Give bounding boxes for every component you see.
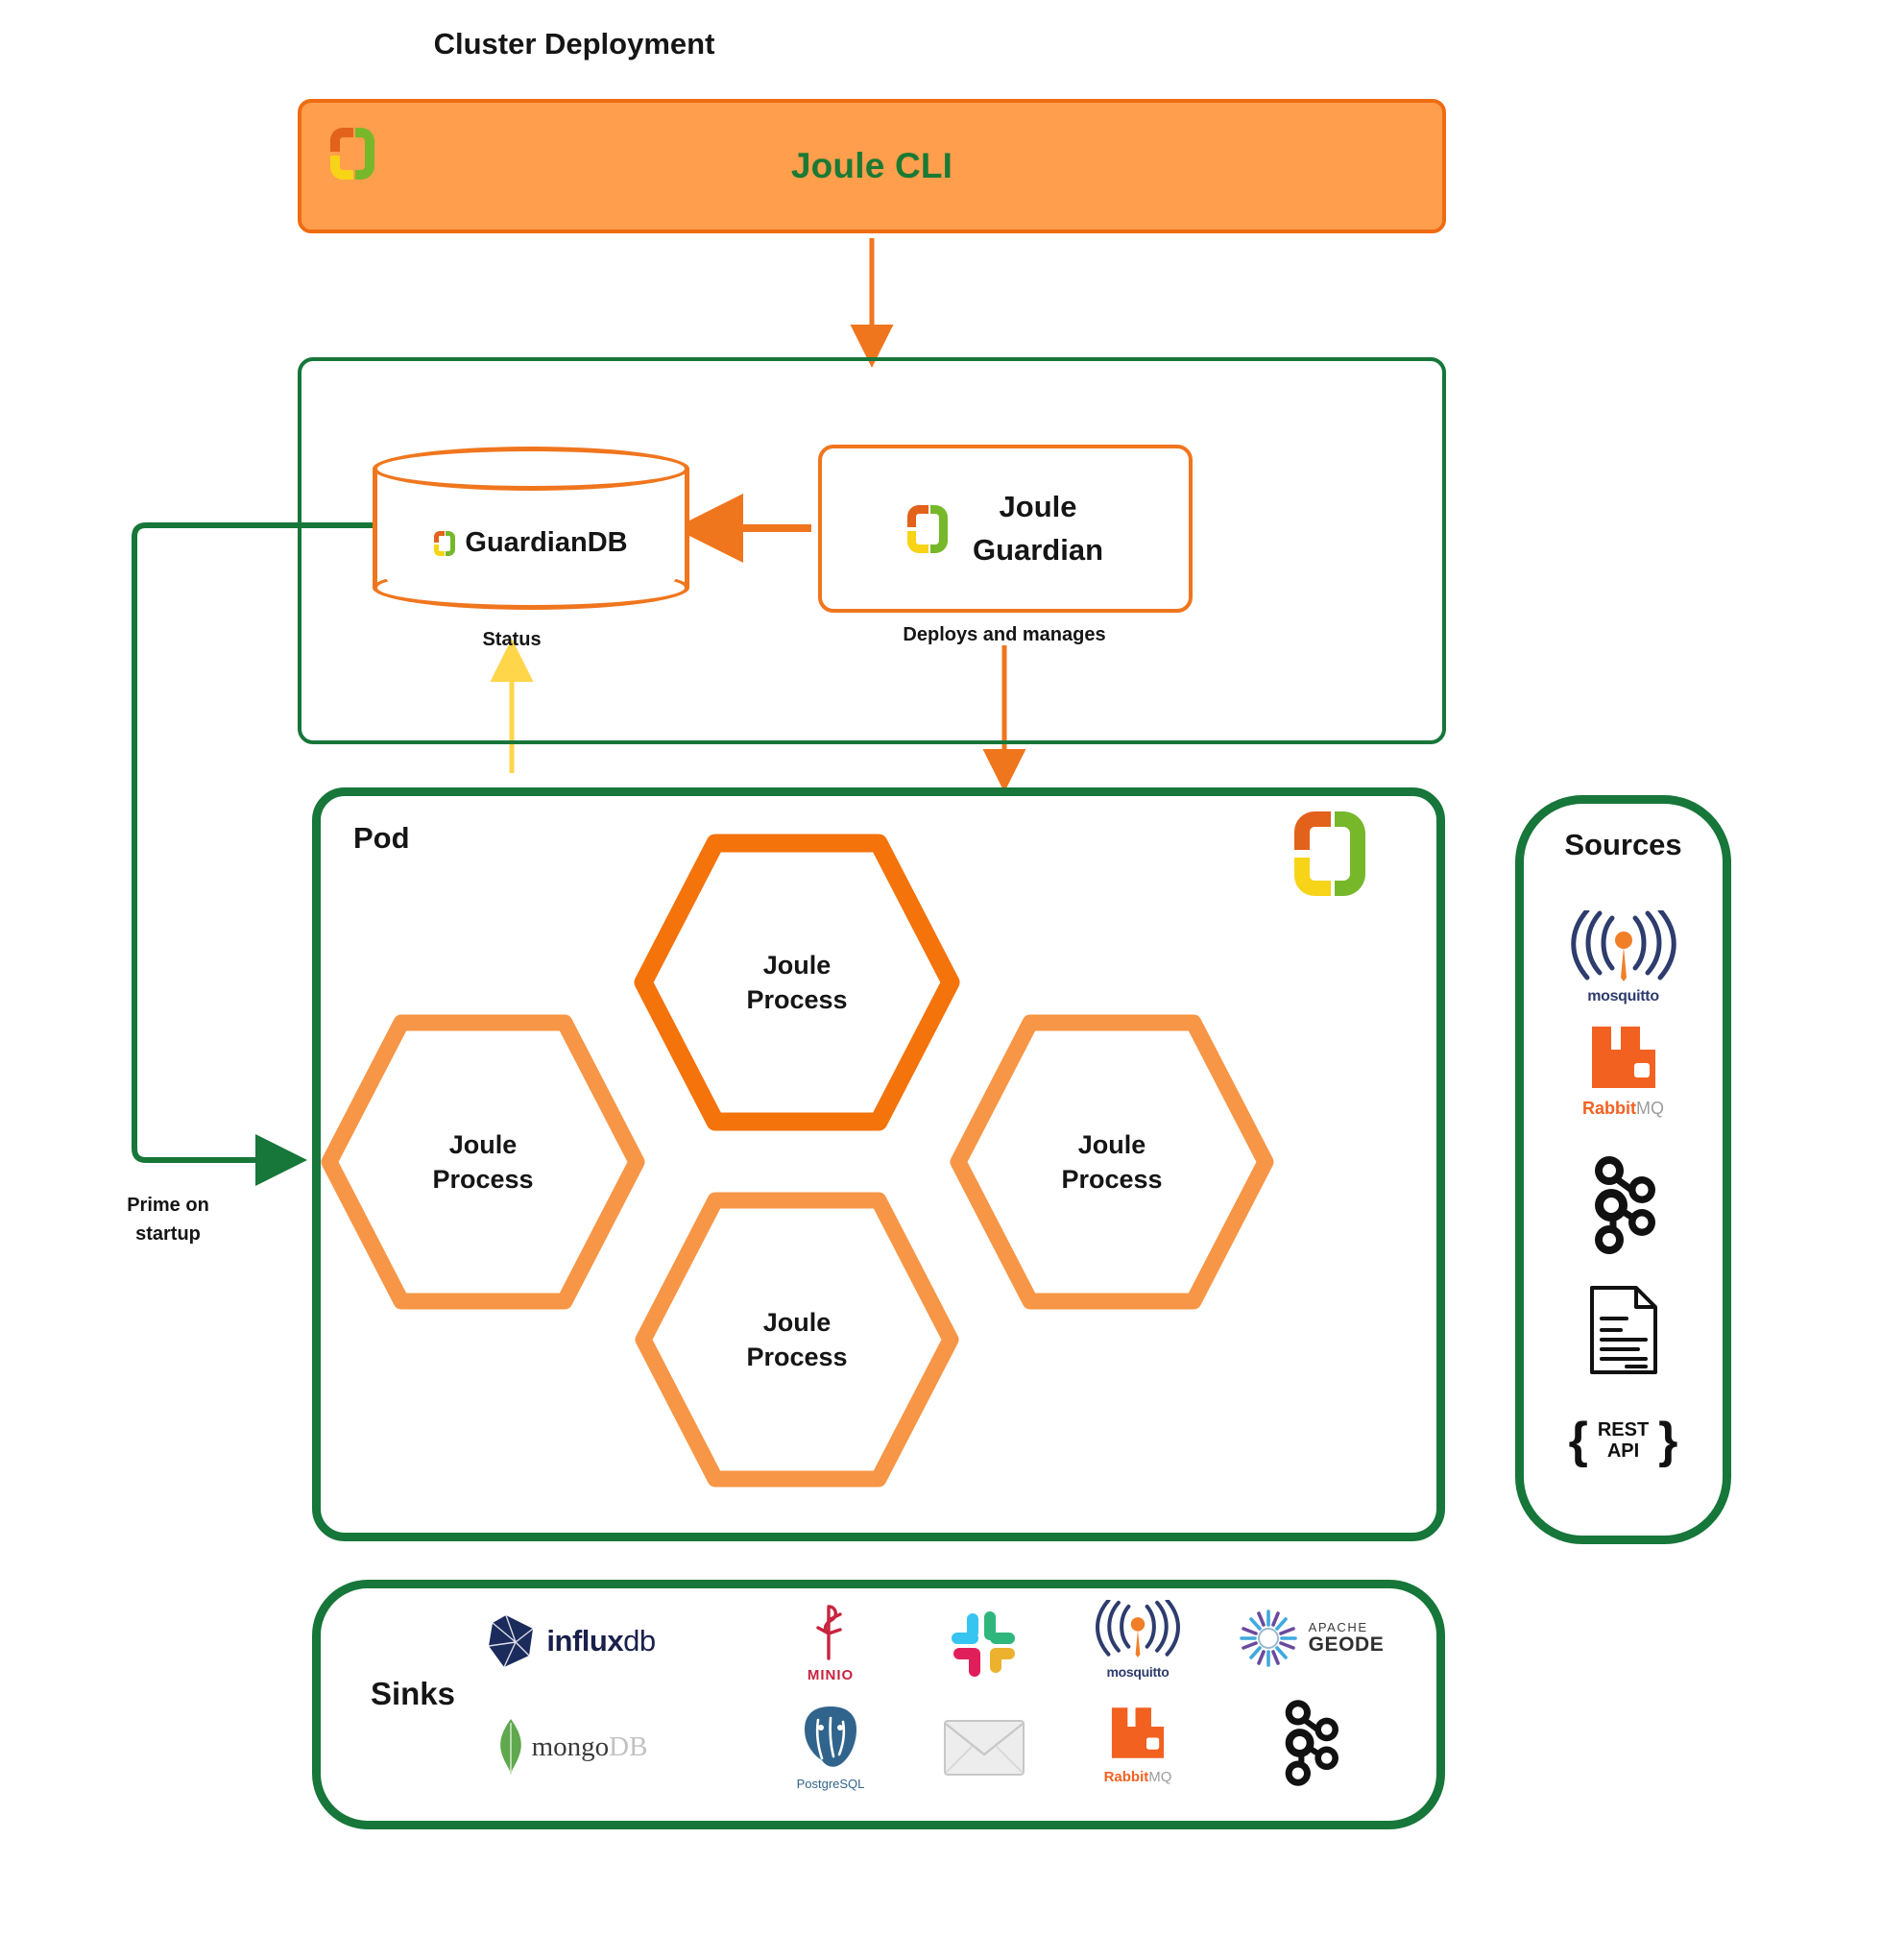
rabbitmq-icon bbox=[1586, 1027, 1661, 1094]
joule-guardian-label: JouleGuardian bbox=[973, 486, 1103, 572]
sink-label-minio: MINIO bbox=[806, 1667, 856, 1683]
slack-icon bbox=[948, 1606, 1021, 1679]
sink-label-mosquitto: mosquitto bbox=[1095, 1664, 1181, 1680]
sink-item-postgresql[interactable]: PostgreSQL bbox=[763, 1695, 898, 1796]
source-item-kafka[interactable] bbox=[1515, 1152, 1731, 1258]
joule-cli-label: Joule CLI bbox=[301, 103, 1442, 230]
sink-label-postgresql: PostgreSQL bbox=[795, 1777, 866, 1791]
geode-icon bbox=[1238, 1608, 1299, 1669]
sink-label-geode-bottom: GEODE bbox=[1309, 1634, 1385, 1656]
prime-on-startup-label: Prime onstartup bbox=[58, 1191, 278, 1248]
joule-process-hex-top[interactable]: JouleProcess bbox=[634, 834, 960, 1131]
joule-process-hex-right[interactable]: JouleProcess bbox=[949, 1013, 1275, 1311]
cylinder-top bbox=[373, 447, 689, 491]
source-item-mosquitto[interactable]: mosquitto bbox=[1515, 905, 1731, 1010]
brace-open-icon: { bbox=[1569, 1418, 1588, 1464]
guardiandb-label-row: GuardianDB bbox=[373, 527, 689, 559]
status-edge-label: Status bbox=[425, 629, 598, 651]
joule-process-label: JouleProcess bbox=[634, 834, 960, 1131]
sink-item-apache-geode[interactable]: APACHE GEODE bbox=[1200, 1594, 1421, 1682]
sources-title: Sources bbox=[1515, 828, 1731, 862]
influxdb-icon bbox=[487, 1613, 537, 1669]
source-label-rest-api: RESTAPI bbox=[1598, 1419, 1649, 1463]
brace-close-icon: } bbox=[1658, 1418, 1677, 1464]
sink-item-minio[interactable]: MINIO bbox=[768, 1594, 893, 1690]
guardiandb-cylinder[interactable]: GuardianDB bbox=[373, 447, 689, 610]
rabbitmq-icon bbox=[1107, 1706, 1169, 1764]
email-icon bbox=[943, 1718, 1025, 1778]
deploys-edge-label: Deploys and manages bbox=[860, 624, 1148, 646]
minio-icon bbox=[806, 1601, 856, 1662]
sink-item-slack[interactable] bbox=[922, 1594, 1047, 1690]
joule-process-label: JouleProcess bbox=[320, 1013, 646, 1311]
joule-process-label: JouleProcess bbox=[949, 1013, 1275, 1311]
kafka-icon bbox=[1276, 1699, 1345, 1787]
joule-process-hex-bottom[interactable]: JouleProcess bbox=[634, 1191, 960, 1488]
sink-label-mongodb: mongoDB bbox=[532, 1731, 648, 1763]
sink-label-influxdb: influxdb bbox=[546, 1624, 655, 1658]
architecture-diagram: Joule CLI Cluster Deployment GuardianDB … bbox=[0, 0, 1881, 1960]
joule-guardian-box[interactable]: JouleGuardian bbox=[818, 445, 1193, 613]
file-document-icon bbox=[1586, 1284, 1661, 1376]
sink-item-rabbitmq[interactable]: RabbitMQ bbox=[1066, 1695, 1210, 1796]
pod-title: Pod bbox=[353, 821, 410, 856]
joule-process-label: JouleProcess bbox=[634, 1191, 960, 1488]
mongodb-icon bbox=[495, 1717, 526, 1777]
sink-label-geode-top: APACHE bbox=[1309, 1621, 1385, 1634]
sink-item-influxdb[interactable]: influxdb bbox=[461, 1599, 682, 1683]
sink-item-email[interactable] bbox=[922, 1705, 1047, 1791]
sink-label-rabbitmq: RabbitMQ bbox=[1104, 1769, 1172, 1785]
mosquitto-icon bbox=[1570, 910, 1677, 983]
joule-logo-icon bbox=[907, 505, 948, 553]
sink-item-mongodb[interactable]: mongoDB bbox=[461, 1705, 682, 1789]
joule-logo-icon bbox=[434, 531, 455, 556]
guardiandb-label: GuardianDB bbox=[465, 527, 627, 559]
joule-process-hex-left[interactable]: JouleProcess bbox=[320, 1013, 646, 1311]
source-item-rabbitmq[interactable]: RabbitMQ bbox=[1515, 1020, 1731, 1125]
sink-item-kafka[interactable] bbox=[1200, 1690, 1421, 1796]
cylinder-bottom bbox=[373, 566, 689, 610]
joule-cli-bar[interactable]: Joule CLI bbox=[298, 99, 1446, 233]
source-label-rabbitmq: RabbitMQ bbox=[1582, 1099, 1664, 1119]
postgresql-icon bbox=[795, 1701, 866, 1772]
source-label-mosquitto: mosquitto bbox=[1570, 988, 1677, 1005]
sink-item-mosquitto[interactable]: mosquitto bbox=[1066, 1589, 1210, 1690]
cluster-deployment-title: Cluster Deployment bbox=[0, 27, 1148, 61]
kafka-icon bbox=[1584, 1155, 1663, 1255]
source-item-rest-api[interactable]: { RESTAPI } bbox=[1515, 1397, 1731, 1484]
source-item-file[interactable] bbox=[1515, 1277, 1731, 1383]
mosquitto-icon bbox=[1095, 1600, 1181, 1659]
